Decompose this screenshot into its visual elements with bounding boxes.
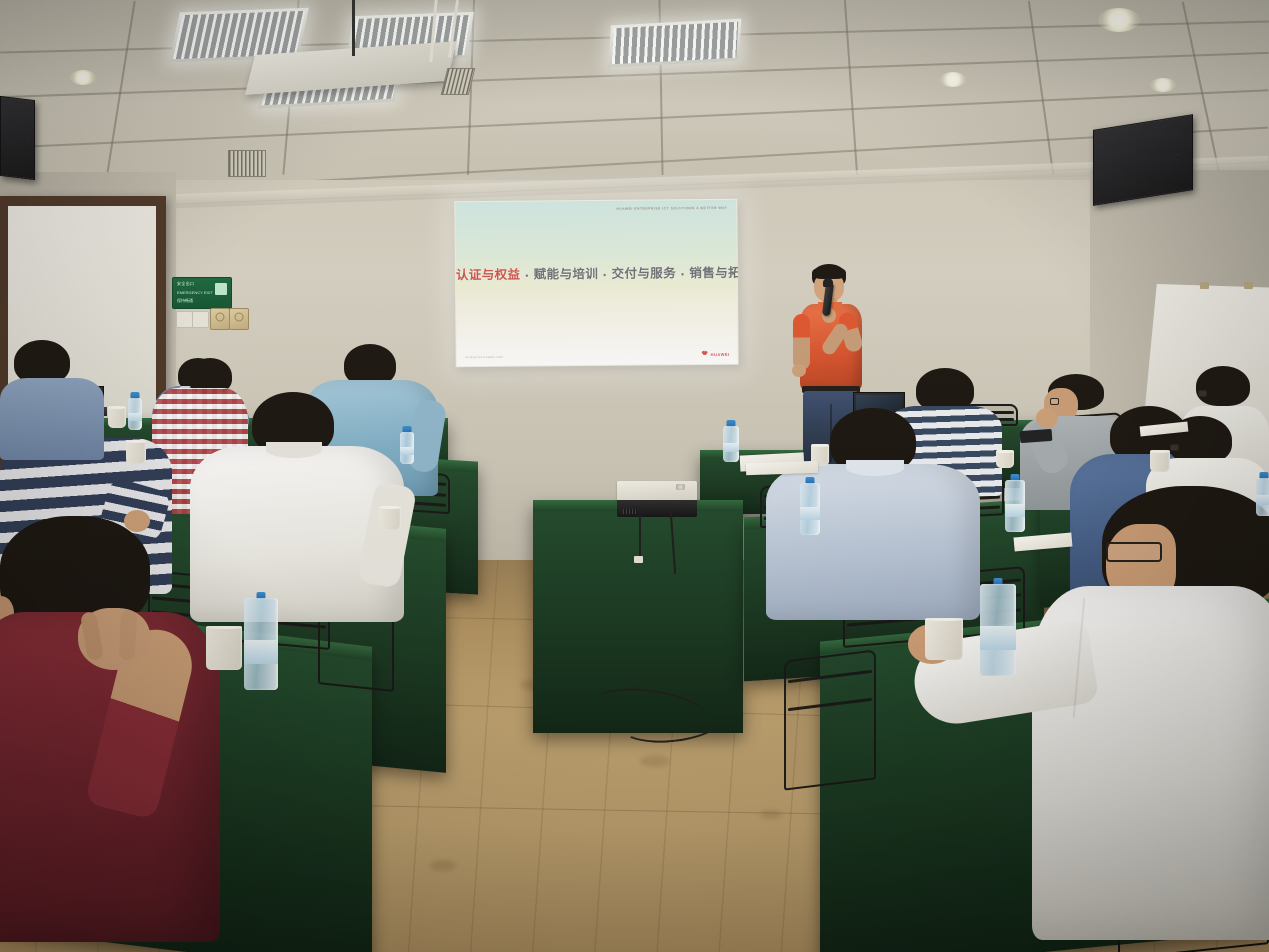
huawei-logo: HUAWEI — [700, 350, 730, 359]
document-sheet[interactable] — [746, 461, 818, 476]
huawei-flower-icon — [700, 350, 709, 359]
recessed-downlight — [1150, 78, 1176, 92]
bottle-label — [1256, 495, 1269, 505]
huawei-wordmark: HUAWEI — [711, 352, 730, 357]
slide-separator: • — [602, 270, 608, 280]
water-bottle[interactable] — [128, 392, 142, 430]
slide-headline-segment-2: 赋能与培训 — [534, 267, 599, 282]
light-switch-plate[interactable] — [176, 311, 193, 328]
attendee-a8 — [906, 486, 1269, 952]
bottle-label — [128, 413, 142, 421]
conference-room-photo: · · 安全出口 EMERGENCY EXIT 保持畅通 HUAWEI ENTE… — [0, 0, 1269, 952]
light-switch-plate[interactable] — [192, 311, 209, 328]
exit-sign-line3: 保持畅通 — [177, 298, 193, 304]
flipchart-clip — [1244, 282, 1253, 289]
presenter-left-hand — [792, 364, 806, 377]
bottle-label — [800, 507, 820, 521]
attendee-shirt — [0, 378, 104, 460]
water-bottle[interactable] — [723, 420, 739, 462]
water-bottle[interactable] — [244, 592, 278, 690]
eyeglasses-icon — [1050, 398, 1059, 405]
wall-speaker-right: · — [1093, 114, 1193, 206]
eyeglasses-icon — [1170, 444, 1179, 451]
phone-device[interactable] — [1020, 429, 1053, 443]
attendee-collar — [266, 442, 322, 458]
flipchart-clip — [1200, 282, 1209, 289]
wall-socket[interactable] — [210, 308, 230, 330]
recessed-downlight — [940, 72, 966, 87]
bottle-label — [980, 626, 1016, 650]
presentation-slide: HUAWEI ENTERPRISE ICT SOLUTIONS A BETTER… — [455, 200, 737, 366]
slide-headline-segment-4: 销售与拓展 — [689, 266, 738, 281]
slide-headline-segment-3: 交付与服务 — [612, 266, 677, 281]
ceiling-light-fixture — [609, 19, 742, 68]
water-bottle[interactable] — [1005, 474, 1025, 532]
presenter-hair-front — [812, 266, 846, 279]
attendee-hair — [1196, 366, 1250, 406]
slide-separator: • — [680, 269, 686, 279]
exit-sign-line1: 安全出口 — [177, 281, 194, 287]
emergency-exit-sign: 安全出口 EMERGENCY EXIT 保持畅通 — [172, 277, 232, 309]
water-bottle[interactable] — [1256, 472, 1269, 516]
paper-cup[interactable] — [1150, 450, 1170, 472]
exit-pictogram-icon — [215, 283, 227, 295]
bottle-label — [400, 447, 414, 455]
paper-cup[interactable] — [108, 406, 126, 428]
attendee-a2 — [0, 340, 110, 450]
wall-socket[interactable] — [229, 308, 249, 330]
eyeglasses-icon — [1106, 542, 1162, 562]
water-bottle[interactable] — [980, 578, 1016, 676]
bottle-label — [723, 443, 739, 452]
eyeglasses-icon — [1198, 390, 1207, 397]
projector-vent — [623, 509, 637, 514]
paper-cup[interactable] — [996, 450, 1014, 468]
exit-sign-line2: EMERGENCY EXIT — [177, 290, 213, 295]
attendee-hand — [1036, 408, 1058, 428]
chair[interactable] — [784, 649, 876, 790]
microphone-head-icon — [823, 278, 833, 287]
recessed-downlight — [1098, 8, 1140, 32]
projector-lens-icon — [676, 484, 685, 490]
slide-separator: • — [524, 270, 530, 280]
slide-footer-url: enterprise.huawei.com — [466, 355, 504, 359]
projection-screen: HUAWEI ENTERPRISE ICT SOLUTIONS A BETTER… — [454, 199, 738, 367]
presenter-left-arm — [793, 314, 810, 370]
projector[interactable] — [617, 481, 697, 517]
bottle-label — [1005, 504, 1025, 518]
slide-tagline: HUAWEI ENTERPRISE ICT SOLUTIONS A BETTER… — [616, 206, 727, 211]
paper-cup[interactable] — [206, 626, 242, 670]
recessed-downlight — [70, 70, 96, 85]
slide-headline: 认证与权益 • 赋能与培训 • 交付与服务 • 销售与拓展 — [456, 262, 737, 283]
paper-cup[interactable] — [925, 618, 963, 660]
slide-headline-segment-1: 认证与权益 — [456, 268, 521, 283]
attendee-a1 — [0, 516, 280, 952]
attendee-collar — [846, 460, 904, 476]
water-bottle[interactable] — [800, 477, 820, 535]
paper-cup[interactable] — [379, 506, 401, 530]
paper-cup[interactable] — [126, 440, 146, 464]
wall-speaker-left: · — [0, 96, 35, 180]
projector-cable-connector — [634, 556, 643, 563]
speaker-brand-label: · — [1176, 151, 1178, 157]
bottle-label — [244, 640, 278, 664]
attendee-fingers — [119, 610, 138, 661]
wall-vent — [228, 150, 266, 177]
water-bottle[interactable] — [400, 426, 414, 464]
